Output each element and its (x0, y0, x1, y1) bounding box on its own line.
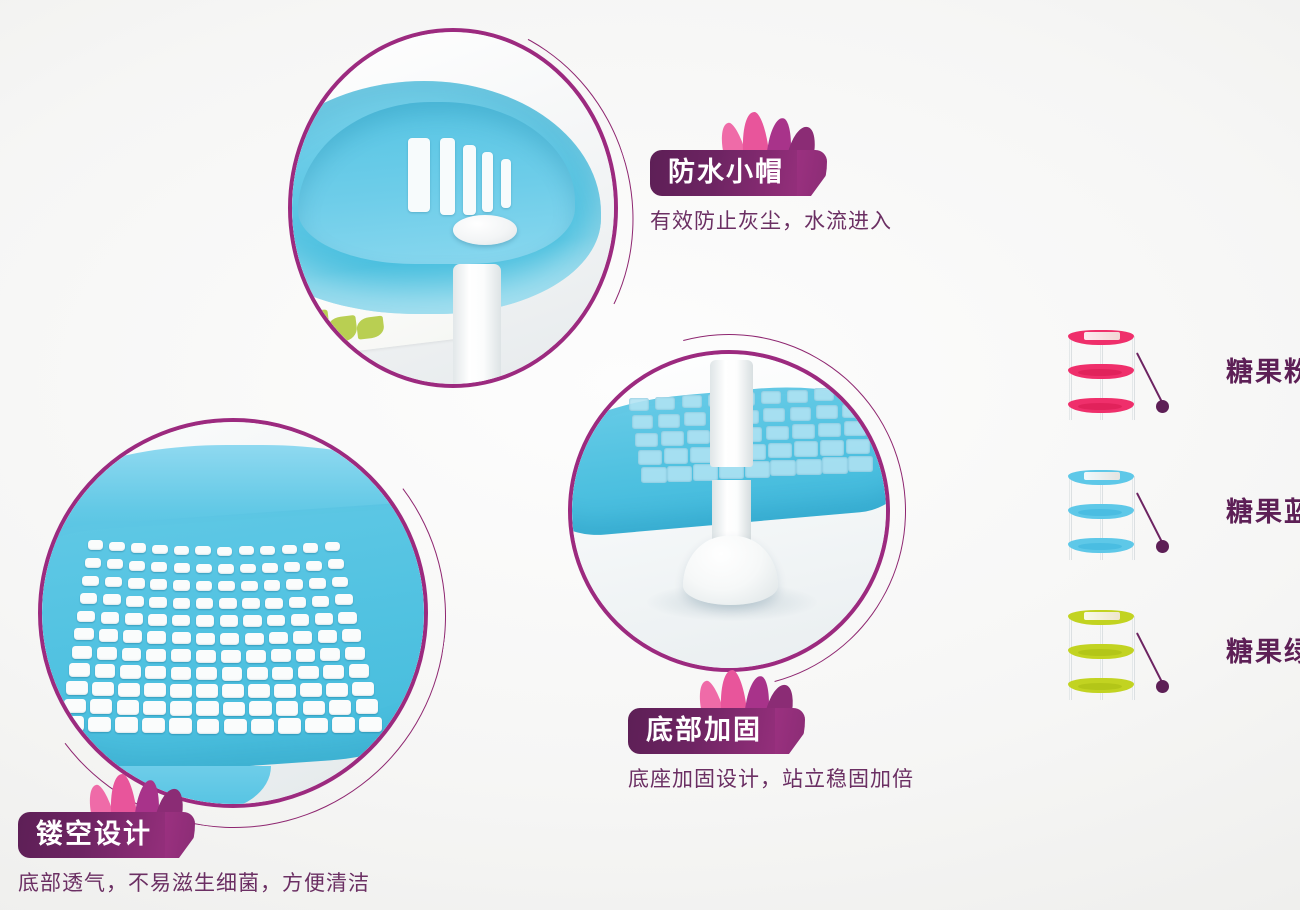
feature-title-badge: 底部加固 (628, 708, 792, 754)
feature-label-waterproof-cap: 防水小帽 有效防止灰尘，水流进入 (650, 150, 892, 235)
pointer-line-icon (1152, 616, 1214, 694)
pointer-line-icon (1152, 476, 1214, 554)
photo-reinforced-base (572, 354, 886, 668)
feature-subtitle: 底部透气，不易滋生细菌，方便清洁 (18, 867, 370, 897)
feature-title: 镂空设计 (36, 819, 152, 849)
badge-tail-shape (165, 812, 195, 858)
feature-label-hollow-design: 镂空设计 底部透气，不易滋生细菌，方便清洁 (18, 812, 370, 897)
photo-hollow-mesh (42, 422, 424, 804)
feature-subtitle: 底座加固设计，站立稳固加倍 (628, 763, 914, 793)
feature-title-badge: 防水小帽 (650, 150, 814, 196)
feature-title: 防水小帽 (668, 157, 784, 187)
callout-waterproof-cap (288, 28, 618, 388)
photo-frame-hollow-design (38, 418, 428, 808)
badge-tail-shape (797, 150, 827, 196)
product-feature-page: 防水小帽 有效防止灰尘，水流进入 底部加固 底座加固设计，站立稳固加倍 (0, 0, 1300, 910)
feature-title-badge: 镂空设计 (18, 812, 182, 858)
feature-subtitle: 有效防止灰尘，水流进入 (650, 205, 892, 235)
feature-title: 底部加固 (646, 715, 762, 745)
color-option-candy-green[interactable]: 糖果绿 (1048, 606, 1300, 746)
photo-frame-waterproof-cap (288, 28, 618, 388)
color-option-candy-pink[interactable]: 糖果粉 (1048, 326, 1300, 466)
product-thumbnail-candy-pink (1066, 330, 1138, 422)
color-option-candy-blue[interactable]: 糖果蓝 (1048, 466, 1300, 606)
callout-base-reinforcement (568, 350, 890, 672)
product-thumbnail-candy-green (1066, 610, 1138, 702)
color-label: 糖果蓝 (1226, 490, 1300, 529)
photo-waterproof-cap (292, 32, 614, 384)
product-thumbnail-candy-blue (1066, 470, 1138, 562)
color-label: 糖果绿 (1226, 630, 1300, 669)
callout-hollow-design (38, 418, 428, 808)
feature-label-base-reinforcement: 底部加固 底座加固设计，站立稳固加倍 (628, 708, 914, 793)
photo-frame-base-reinforcement (568, 350, 890, 672)
pointer-line-icon (1152, 336, 1214, 414)
badge-tail-shape (775, 708, 805, 754)
color-label: 糖果粉 (1226, 350, 1300, 389)
color-options-list: 糖果粉 糖果蓝 (1048, 326, 1300, 746)
